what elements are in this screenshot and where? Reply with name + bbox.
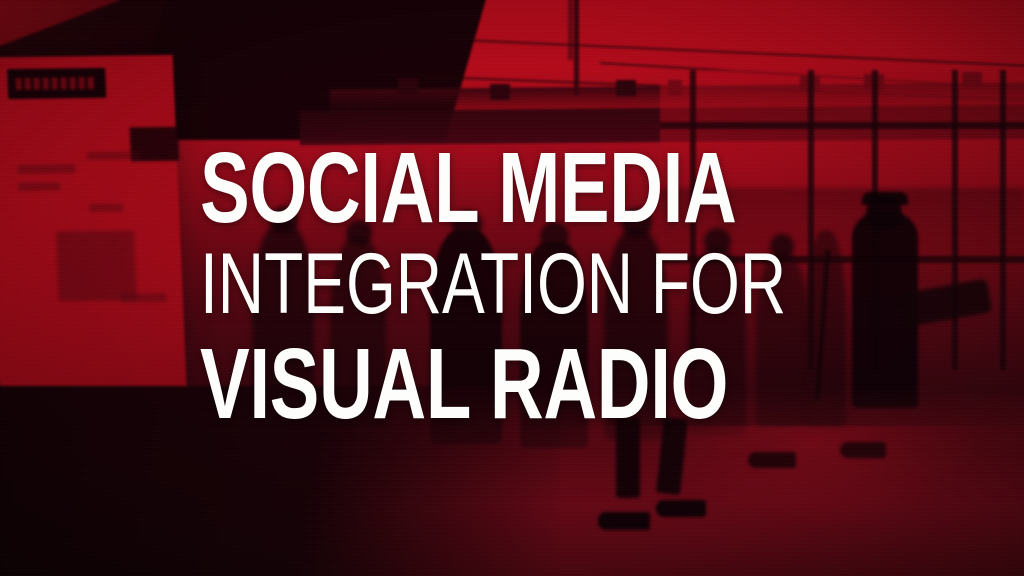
title-line-2: INTEGRATION FOR <box>200 241 659 327</box>
poster-text-block <box>87 151 141 160</box>
ceiling-fixture <box>490 84 510 100</box>
title-line-1: SOCIAL MEDIA <box>200 138 659 238</box>
ceiling-pole <box>568 0 573 60</box>
poster-text-block <box>17 164 75 174</box>
walker-shoe <box>840 442 886 458</box>
camera-operator-cap <box>862 192 908 205</box>
video-frame: SOCIAL MEDIA INTEGRATION FOR VISUAL RADI… <box>0 0 1024 576</box>
poster-board <box>0 55 187 409</box>
window-mullion-vertical <box>952 70 958 370</box>
window-mullion-horizontal <box>660 122 1024 129</box>
poster-logo-plaque <box>7 68 106 99</box>
ceiling-fixture <box>616 80 636 96</box>
walker-shoe <box>748 452 796 468</box>
walker-shoe <box>598 512 650 530</box>
walker-shoe <box>656 500 706 517</box>
poster-text-block <box>89 204 123 212</box>
poster-text-block <box>18 182 60 191</box>
ceiling-fixture <box>398 78 418 94</box>
window-mullion-vertical <box>1000 70 1006 370</box>
title-line-3: VISUAL RADIO <box>200 334 659 434</box>
poster-image-thumb <box>56 230 137 301</box>
ceiling-pole <box>574 0 579 96</box>
title-overlay: SOCIAL MEDIA INTEGRATION FOR VISUAL RADI… <box>200 138 816 434</box>
